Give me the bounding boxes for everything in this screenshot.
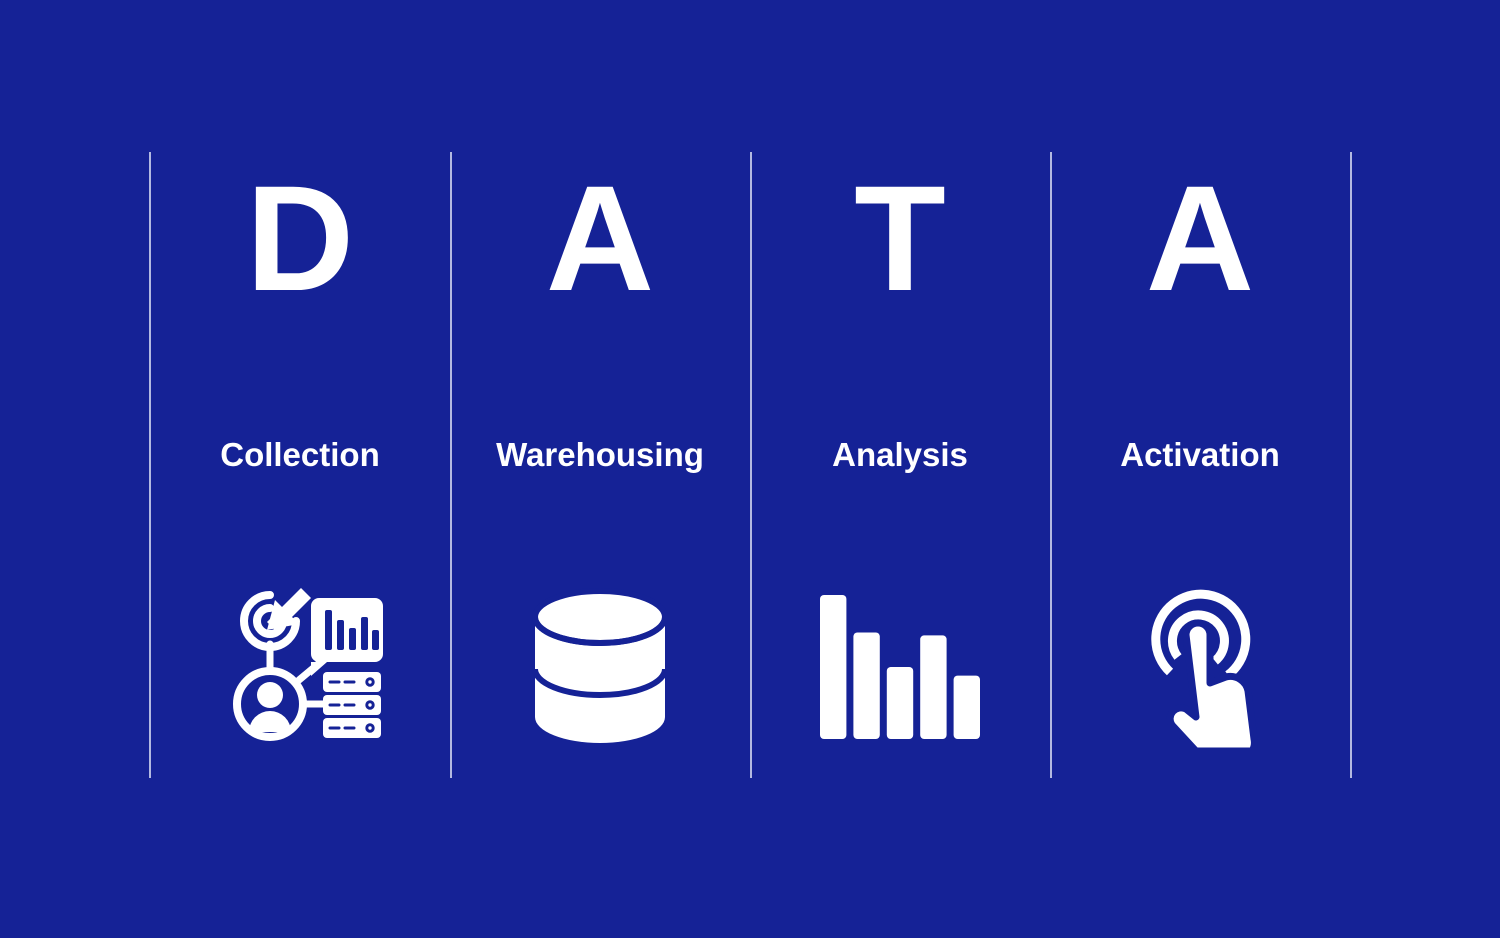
bar-chart-bars — [820, 595, 980, 739]
user-avatar-icon — [237, 671, 303, 737]
column-collection: D Collection — [150, 152, 450, 778]
bar-chart-panel-icon — [311, 598, 383, 676]
bar-2 — [853, 632, 879, 739]
column-activation: A Activation — [1050, 152, 1350, 778]
database-cylinder-icon — [450, 577, 750, 757]
acronym-letter-a-2: A — [1050, 158, 1350, 318]
acronym-letter-d: D — [150, 158, 450, 318]
database-body — [535, 591, 665, 743]
tap-gesture-icon — [1050, 577, 1350, 757]
data-collection-icon — [150, 577, 450, 757]
stage-label-activation: Activation — [1050, 435, 1350, 475]
stage-label-warehousing: Warehousing — [450, 435, 750, 475]
column-warehousing: A Warehousing — [450, 152, 750, 778]
bar-3 — [887, 667, 913, 739]
infographic-canvas: D Collection — [0, 0, 1500, 938]
stage-label-analysis: Analysis — [750, 435, 1050, 475]
bar-4 — [920, 635, 946, 739]
server-rack-icon — [323, 672, 381, 738]
column-analysis: T Analysis — [750, 152, 1050, 778]
stage-label-collection: Collection — [150, 435, 450, 475]
bar-5 — [954, 676, 980, 739]
bar-chart-icon — [750, 577, 1050, 757]
bar-1 — [820, 595, 846, 739]
acronym-letter-a-1: A — [450, 158, 750, 318]
divider-line-5 — [1350, 152, 1352, 778]
acronym-letter-t: T — [750, 158, 1050, 318]
